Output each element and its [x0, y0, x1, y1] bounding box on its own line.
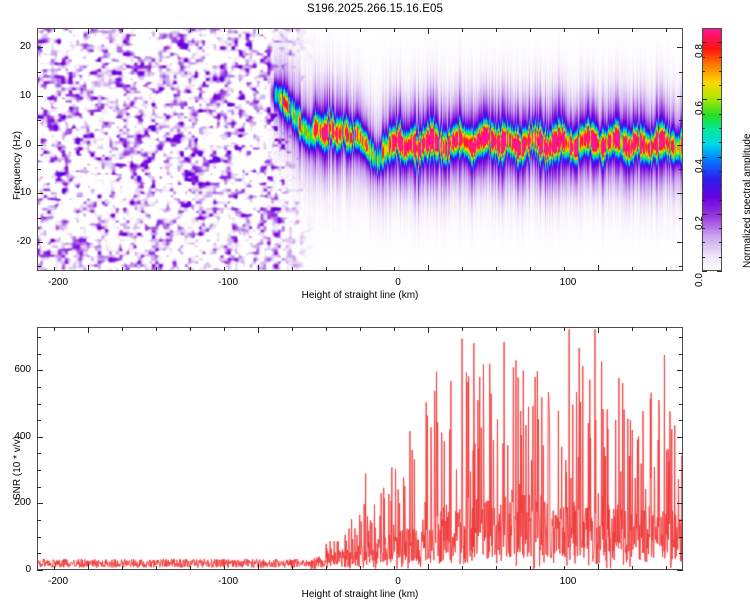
axis-tick [719, 142, 722, 143]
snr-y-axis-label: SNR (10 * v/v) [12, 436, 23, 500]
axis-tick [679, 387, 683, 388]
axis-tick [37, 354, 41, 355]
axis-tick [679, 266, 683, 267]
axis-tick [702, 157, 705, 158]
axis-tick-label: 0 [368, 277, 428, 288]
axis-tick [37, 72, 41, 73]
axis-tick [37, 420, 41, 421]
axis-tick [156, 28, 157, 32]
figure-root: S196.2025.266.15.16.E05 -200-1000100-20-… [0, 0, 750, 600]
axis-tick [37, 337, 41, 338]
axis-tick [37, 470, 41, 471]
axis-tick [190, 566, 191, 570]
axis-tick [37, 503, 43, 504]
axis-tick-label: -200 [28, 277, 88, 288]
axis-tick [677, 370, 683, 371]
axis-tick [719, 257, 722, 258]
axis-tick [428, 28, 429, 34]
axis-tick [190, 267, 191, 271]
axis-tick [37, 218, 41, 219]
axis-tick [37, 387, 41, 388]
axis-tick [326, 28, 327, 32]
axis-tick [702, 185, 705, 186]
page-title: S196.2025.266.15.16.E05 [0, 3, 750, 15]
axis-tick [394, 267, 395, 271]
axis-tick [677, 145, 683, 146]
axis-tick [719, 128, 722, 129]
axis-tick [679, 404, 683, 405]
axis-tick [666, 28, 667, 32]
axis-tick [428, 265, 429, 271]
axis-tick [702, 228, 705, 229]
axis-tick [719, 242, 722, 243]
axis-tick-label: 0 [0, 564, 31, 575]
axis-tick [719, 71, 722, 72]
axis-tick [702, 57, 705, 58]
axis-tick [224, 566, 225, 570]
axis-tick [719, 214, 722, 215]
axis-tick [702, 257, 705, 258]
axis-tick [496, 267, 497, 271]
axis-tick [702, 128, 705, 129]
axis-tick [326, 267, 327, 271]
axis-tick [719, 114, 722, 115]
axis-tick [360, 28, 361, 32]
axis-tick [702, 42, 705, 43]
axis-tick-label: 600 [0, 364, 31, 375]
axis-tick [122, 267, 123, 271]
axis-tick [394, 566, 395, 570]
axis-tick [719, 200, 722, 201]
spectrogram-x-axis-label: Height of straight line (km) [0, 290, 720, 301]
axis-tick-label: -100 [198, 277, 258, 288]
axis-tick [122, 28, 123, 32]
axis-tick [702, 200, 705, 201]
colorbar-label: Normalized spectral amplitude [742, 133, 750, 268]
axis-tick [632, 267, 633, 271]
colorbar-tick-label: 0.0 [694, 273, 705, 287]
colorbar-gradient [703, 29, 721, 270]
axis-tick [428, 327, 429, 333]
axis-tick [326, 327, 327, 331]
axis-tick [719, 85, 722, 86]
axis-tick [37, 537, 41, 538]
axis-tick-label: -200 [28, 576, 88, 587]
axis-tick [37, 453, 41, 454]
axis-tick-label: 20 [0, 41, 31, 52]
axis-tick [719, 99, 722, 100]
axis-tick [394, 327, 395, 331]
axis-tick [394, 28, 395, 32]
axis-tick-label: 100 [538, 277, 598, 288]
axis-tick [702, 242, 705, 243]
axis-tick [122, 566, 123, 570]
axis-tick [37, 145, 43, 146]
axis-tick [679, 169, 683, 170]
axis-tick [37, 370, 43, 371]
axis-tick [37, 487, 41, 488]
axis-tick [224, 28, 225, 32]
axis-tick [719, 157, 722, 158]
axis-tick-label: -20 [0, 236, 31, 247]
axis-tick [258, 265, 259, 271]
axis-tick [679, 520, 683, 521]
axis-tick [360, 327, 361, 331]
axis-tick [54, 267, 55, 271]
axis-tick [530, 327, 531, 331]
axis-tick [702, 171, 705, 172]
spectrogram-y-axis-label: Frequency (Hz) [12, 131, 23, 200]
axis-tick [156, 267, 157, 271]
axis-tick [37, 404, 41, 405]
axis-tick [719, 228, 722, 229]
axis-tick [37, 96, 43, 97]
axis-tick [679, 470, 683, 471]
axis-tick [88, 327, 89, 333]
axis-tick [37, 169, 41, 170]
axis-tick [677, 242, 683, 243]
axis-tick [292, 28, 293, 32]
axis-tick [88, 564, 89, 570]
snr-x-axis-label: Height of straight line (km) [0, 589, 720, 600]
axis-tick [360, 267, 361, 271]
axis-tick [496, 28, 497, 32]
axis-tick [37, 47, 43, 48]
axis-tick [598, 564, 599, 570]
axis-tick [677, 437, 683, 438]
axis-tick [632, 327, 633, 331]
axis-tick-label: 0 [368, 576, 428, 587]
axis-tick [702, 71, 705, 72]
axis-tick [37, 570, 43, 571]
axis-tick [719, 42, 722, 43]
axis-tick [224, 327, 225, 331]
axis-tick [156, 327, 157, 331]
axis-tick [88, 28, 89, 34]
axis-tick [679, 537, 683, 538]
axis-tick [37, 242, 43, 243]
axis-tick [37, 553, 41, 554]
axis-tick [54, 566, 55, 570]
axis-tick [564, 566, 565, 570]
axis-tick [598, 28, 599, 34]
axis-tick [54, 28, 55, 32]
axis-tick [679, 553, 683, 554]
axis-tick [677, 47, 683, 48]
axis-tick [666, 566, 667, 570]
axis-tick [530, 28, 531, 32]
axis-tick [564, 28, 565, 32]
axis-tick [258, 564, 259, 570]
axis-tick [496, 566, 497, 570]
axis-tick [598, 265, 599, 271]
axis-tick [428, 564, 429, 570]
axis-tick [719, 185, 722, 186]
axis-tick-label: 100 [538, 576, 598, 587]
axis-tick [326, 566, 327, 570]
axis-tick [224, 267, 225, 271]
axis-tick [564, 327, 565, 331]
axis-tick [156, 566, 157, 570]
axis-tick [679, 354, 683, 355]
axis-tick [666, 267, 667, 271]
axis-tick [462, 327, 463, 331]
axis-tick [37, 193, 43, 194]
axis-tick [677, 193, 683, 194]
axis-tick [462, 28, 463, 32]
axis-tick [679, 420, 683, 421]
axis-tick [702, 142, 705, 143]
axis-tick [190, 327, 191, 331]
axis-tick [719, 171, 722, 172]
axis-tick [679, 337, 683, 338]
axis-tick [37, 437, 43, 438]
axis-tick [632, 28, 633, 32]
axis-tick [679, 453, 683, 454]
axis-tick [37, 266, 41, 267]
axis-tick [360, 566, 361, 570]
axis-tick [37, 120, 41, 121]
axis-tick [679, 218, 683, 219]
axis-tick [702, 271, 707, 272]
axis-tick [462, 267, 463, 271]
axis-tick [666, 327, 667, 331]
axis-tick-label: 10 [0, 90, 31, 101]
axis-tick [719, 57, 722, 58]
axis-tick [679, 72, 683, 73]
axis-tick [292, 327, 293, 331]
axis-tick [37, 520, 41, 521]
spectrogram-image [38, 29, 683, 271]
axis-tick [632, 566, 633, 570]
axis-tick [702, 85, 705, 86]
colorbar [702, 28, 722, 271]
axis-tick [677, 503, 683, 504]
axis-tick [88, 265, 89, 271]
axis-tick [54, 327, 55, 331]
axis-tick [496, 327, 497, 331]
axis-tick [292, 566, 293, 570]
axis-tick [679, 120, 683, 121]
axis-tick [702, 114, 705, 115]
axis-tick [702, 99, 705, 100]
axis-tick [530, 566, 531, 570]
spectrogram-panel [37, 28, 683, 271]
axis-tick-label: -100 [198, 576, 258, 587]
snr-panel [37, 327, 683, 570]
axis-tick [679, 487, 683, 488]
axis-tick [292, 267, 293, 271]
axis-tick [190, 28, 191, 32]
axis-tick [258, 327, 259, 333]
axis-tick [122, 327, 123, 331]
axis-tick [677, 570, 683, 571]
axis-tick [677, 96, 683, 97]
axis-tick [530, 267, 531, 271]
axis-tick [598, 327, 599, 333]
axis-tick [717, 271, 722, 272]
snr-trace [38, 328, 683, 570]
axis-tick [702, 214, 705, 215]
axis-tick [462, 566, 463, 570]
axis-tick [258, 28, 259, 34]
axis-tick [564, 267, 565, 271]
